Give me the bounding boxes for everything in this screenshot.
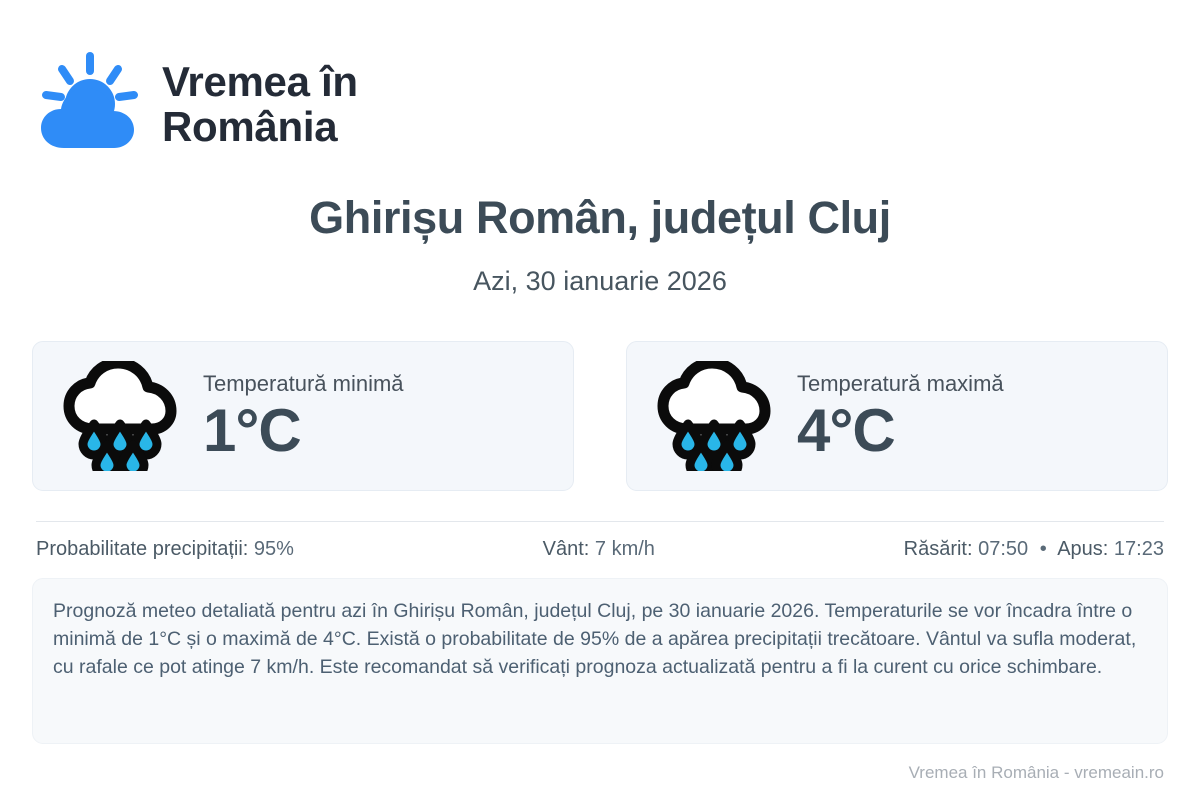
precipitation-metric: Probabilitate precipitații: 95% <box>36 538 294 561</box>
metrics-divider <box>36 521 1164 522</box>
rain-cloud-icon <box>655 361 773 471</box>
precipitation-value: 95% <box>254 538 294 560</box>
max-temperature-label: Temperatură maximă <box>797 371 1004 397</box>
weather-page: Vremea în România Ghirișu Român, județul… <box>0 0 1200 800</box>
wind-label: Vânt: <box>543 538 590 560</box>
forecast-description-box: Prognoză meteo detaliată pentru azi în G… <box>32 578 1168 744</box>
metrics-row: Probabilitate precipitații: 95% Vânt: 7 … <box>36 538 1164 561</box>
sunset-label: Apus: <box>1057 538 1108 560</box>
sun-times-metric: Răsărit: 07:50 • Apus: 17:23 <box>904 538 1164 561</box>
forecast-description-text: Prognoză meteo detaliată pentru azi în G… <box>53 597 1145 681</box>
min-temperature-label: Temperatură minimă <box>203 371 404 397</box>
footer-credit: Vremea în România - vremeain.ro <box>909 763 1164 783</box>
wind-metric: Vânt: 7 km/h <box>543 538 655 561</box>
sun-times-separator: • <box>1034 538 1053 561</box>
sun-behind-cloud-icon <box>36 52 144 156</box>
sunrise-value: 07:50 <box>978 538 1028 560</box>
max-temperature-card: Temperatură maximă 4°C <box>626 341 1168 491</box>
temperature-cards: Temperatură minimă 1°C Temperatură maxim… <box>32 341 1168 491</box>
page-title: Ghirișu Român, județul Cluj <box>0 192 1200 244</box>
max-temperature-value: 4°C <box>797 400 1004 461</box>
brand-logo[interactable]: Vremea în România <box>36 52 358 156</box>
date-subtitle: Azi, 30 ianuarie 2026 <box>0 266 1200 297</box>
sunrise-label: Răsărit: <box>904 538 973 560</box>
precipitation-label: Probabilitate precipitații: <box>36 538 248 560</box>
rain-cloud-icon <box>61 361 179 471</box>
brand-name: Vremea în România <box>162 59 358 150</box>
min-temperature-text: Temperatură minimă 1°C <box>203 371 404 461</box>
wind-value: 7 km/h <box>595 538 655 560</box>
min-temperature-value: 1°C <box>203 400 404 461</box>
min-temperature-card: Temperatură minimă 1°C <box>32 341 574 491</box>
sunset-value: 17:23 <box>1114 538 1164 560</box>
max-temperature-text: Temperatură maximă 4°C <box>797 371 1004 461</box>
